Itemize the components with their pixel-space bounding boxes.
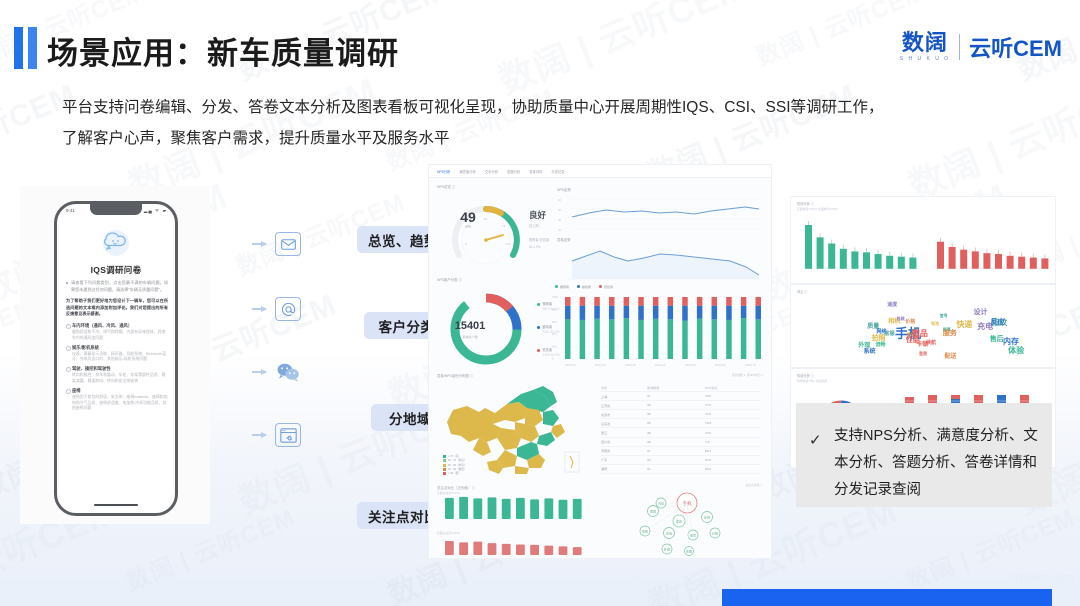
svg-text:拍照: 拍照	[642, 529, 648, 534]
svg-text:2022年5月: 2022年5月	[685, 363, 696, 367]
word-cloud[interactable]: 手机屏幕续航系统拍照充电信号价格外观性能内存电池速度质量服务体验音质网络相机设计…	[799, 293, 1049, 365]
word-cloud-word[interactable]: 反应	[991, 317, 1005, 327]
logo-chinese-text: 数阔	[902, 32, 948, 54]
footer-blue-bar	[722, 589, 1052, 606]
word-cloud-word[interactable]: 赠品	[912, 328, 928, 339]
svg-text:2022年3月: 2022年3月	[625, 363, 636, 367]
table-row[interactable]: 湖南3166.2	[601, 465, 761, 474]
word-cloud-word[interactable]: 包装	[897, 316, 905, 322]
hot-words-panel[interactable]: 热词分析 ⓘ 正面热词TOP10 负面热词TOP10 ▫ ▫ ▫ ▫	[790, 196, 1056, 284]
legend-item: 被动者	[577, 285, 591, 289]
word-cloud-word[interactable]: 信号	[940, 313, 948, 319]
svg-text:40: 40	[558, 218, 561, 222]
dashboard-tab[interactable]: 满意度分析	[459, 169, 475, 174]
province-table[interactable]: 省份答卷数量NPS得分上海4770.5江苏省4877.6北京市4574.0山东省…	[601, 383, 761, 474]
map-legend-item: < 40（低）	[443, 472, 466, 476]
slide-header: 场景应用：新车质量调研 数阔 S H U K U O 云听CEM	[0, 0, 1080, 86]
word-cloud-word[interactable]: 外观	[858, 340, 870, 349]
hot-words-controls[interactable]: ▫ ▫ ▫ ▫	[1022, 201, 1049, 205]
word-cloud-word[interactable]: 电池	[931, 321, 939, 327]
positive-focus-bars	[441, 493, 591, 523]
svg-text:价格: 价格	[712, 531, 719, 536]
table-row[interactable]: 江苏省4877.6	[601, 401, 761, 410]
dashboard-tab-bar[interactable]: NPS分析满意度分析文本分析答题分析答卷详情分发记录	[429, 165, 771, 178]
svg-text:60: 60	[558, 198, 561, 202]
nps-meta: 较上期 ↑	[529, 223, 541, 228]
phone-survey-body: 请查看下列问题类别，点击您最不满的车辆问题。如果您未遇到过任何问题，请选择"车辆…	[66, 280, 168, 415]
svg-text:30: 30	[558, 228, 561, 232]
email-icon[interactable]	[275, 232, 301, 256]
status-icons: ▂▄ ᯤ ▰	[144, 208, 167, 214]
svg-text:40%: 40%	[552, 333, 558, 336]
word-cloud-word[interactable]: 设计	[974, 307, 988, 317]
svg-text:20%: 20%	[552, 346, 558, 349]
logo-divider	[959, 34, 960, 60]
logo-chinese: 数阔 S H U K U O	[900, 32, 950, 62]
logo-product-name: 云听CEM	[969, 31, 1062, 63]
focus-section-title: 关注点对比（正负面） ⓘ	[437, 485, 475, 490]
nps-overview-title: NPS总览 ⓘ	[437, 184, 455, 189]
sentiment-controls[interactable]: ▫ ▫ ▫ ▫	[1022, 373, 1049, 377]
word-cloud-word[interactable]: 价格	[905, 318, 915, 325]
nps-meta2: 推荐者 贬损者	[529, 237, 549, 242]
word-cloud-word[interactable]: 卡顿	[916, 339, 928, 348]
phone-home-indicator	[94, 504, 138, 507]
sentiment-title: 情感分析 ⓘ	[797, 373, 814, 378]
nps-gauge-value: 49	[429, 209, 507, 225]
intro-paragraph: 平台支持问卷编辑、分发、答卷文本分析及图表看板可视化呈现，协助质量中心开展周期性…	[62, 92, 1042, 154]
svg-text:50: 50	[558, 208, 561, 212]
table-row[interactable]: 浙江4872.6	[601, 428, 761, 437]
logo-pinyin: S H U K U O	[900, 56, 950, 62]
arrow-icon	[252, 371, 266, 373]
table-row[interactable]: 四川省467.6	[601, 438, 761, 447]
nps-status-label: 良好	[529, 209, 546, 221]
table-row[interactable]: 广东3367.5	[601, 456, 761, 465]
svg-text:信号: 信号	[690, 533, 696, 538]
keyword-bubble-network[interactable]: 手机屏幕续航系统拍照充电信号价格外观性能内存	[615, 483, 765, 559]
phone-survey-title: IQS调研问卷	[57, 264, 175, 276]
svg-text:性能: 性能	[686, 549, 692, 554]
phone-status-bar: 9:41 ▂▄ ᯤ ▰	[57, 207, 175, 217]
table-row[interactable]: 北京市4574.0	[601, 410, 761, 419]
survey-question-desc: 转向和操控、刹车和震动、车轮、车架零部件品质、悬架减震、悬架转向、转向和安全带安…	[72, 372, 168, 384]
svg-text:2022年2月: 2022年2月	[595, 363, 606, 367]
survey-question[interactable]: 娱乐/影机系统仪表、屏幕显示功能、扬声器、导航系统、Bluetooth蓝牙、充电…	[66, 345, 168, 363]
nps-gauge-unit: NPS	[429, 225, 507, 229]
word-cloud-word[interactable]: 服务	[943, 328, 957, 338]
wechat-icon[interactable]	[275, 360, 301, 384]
check-icon: ✓	[809, 431, 822, 449]
intro-line-1: 平台支持问卷编辑、分发、答卷文本分析及图表看板可视化呈现，协助质量中心开展周期性…	[62, 92, 1042, 123]
svg-text:外观: 外观	[664, 547, 670, 552]
word-cloud-word[interactable]: 流畅	[876, 341, 886, 348]
donut-total-value: 15401	[429, 320, 511, 332]
survey-question[interactable]: 车内环境（通风、冷风、通风）暖和舒适和不冷、排气和除霜、内部有异味怪味、其他车内…	[66, 323, 168, 341]
svg-text:0: 0	[465, 242, 467, 246]
arrow-icon	[252, 308, 266, 310]
svg-text:2022年1月: 2022年1月	[565, 363, 576, 367]
dashboard-screenshot[interactable]: NPS分析满意度分析文本分析答题分析答卷详情分发记录 NPS总览 ⓘ 0 100…	[428, 164, 772, 559]
response-trend-area-chart	[554, 241, 762, 281]
arrow-icon	[252, 243, 266, 245]
svg-text:100%: 100%	[552, 296, 559, 299]
legend-item: 推荐者	[555, 285, 569, 289]
survey-intro-bullet: 请查看下列问题类别，点击您最不满的车辆问题。如果您未遇到过任何问题，请选择"车辆…	[66, 280, 168, 293]
feature-callout: ✓ 支持NPS分析、满意度分析、文本分析、答题分析、答卷详情和分发记录查阅	[796, 403, 1052, 507]
svg-text:系统: 系统	[704, 515, 710, 520]
slide-page: 数阔 | 云听CEM数阔 | 云听CEM数阔 | 云听CEM数阔 | 云听CEM…	[0, 0, 1080, 606]
word-cloud-word[interactable]: 配送	[944, 351, 956, 360]
dashboard-tab[interactable]: 分发记录	[551, 169, 564, 174]
status-time: 9:41	[66, 208, 75, 213]
survey-question-list[interactable]: 车内环境（通风、冷风、通风）暖和舒适和不冷、排气和除霜、内部有异味怪味、其他车内…	[66, 323, 168, 411]
link-browser-icon[interactable]	[275, 423, 301, 447]
table-header-row: 省份答卷数量NPS得分	[601, 383, 761, 392]
intro-line-2: 了解客户心声，聚焦客户需求，提升质量水平及服务水平	[62, 123, 1042, 154]
survey-question-desc: 座椅用于和包的舒适、安全带、座椅material、座椅和加热和冷气品质、座椅舒适…	[72, 394, 168, 411]
title-accent-bars	[14, 27, 37, 69]
callout-text: 支持NPS分析、满意度分析、文本分析、答题分析、答卷详情和分发记录查阅	[834, 423, 1042, 504]
survey-question-desc: 暖和舒适和不冷、排气和除霜、内部有异味怪味、其他车内的通风加问题	[72, 329, 168, 341]
svg-text:80%: 80%	[552, 308, 558, 311]
dashboard-tab[interactable]: NPS分析	[437, 169, 450, 174]
survey-question[interactable]: 驾驶、操控和驾驶性转向和操控、刹车和震动、车轮、车架零部件品质、悬架减震、悬架转…	[66, 366, 168, 384]
survey-intro-bold: 为了帮助子我们更好地为您设计下一辆车，您可以在所选问题的文本框内添加附加评论。我…	[66, 298, 168, 318]
map-legend-item: 60 - 70（较高）	[443, 459, 466, 463]
hot-words-sub: 正面热词TOP10 负面热词TOP10	[797, 207, 838, 211]
stacked-chart-legend: 推荐者被动者贬损者	[555, 285, 613, 289]
svg-text:屏幕: 屏幕	[650, 509, 656, 514]
svg-text:2022年6月: 2022年6月	[715, 363, 726, 367]
table-filters[interactable]: 按答卷数 ▾ 按NPS得分 ▾	[732, 373, 763, 377]
trend-chart-title: NPS走势	[557, 187, 571, 192]
dashboard-tab[interactable]: 答题分析	[507, 169, 520, 174]
footer-url: hrbsam.com	[1008, 572, 1074, 584]
table-row[interactable]: 河南省3769.1	[601, 447, 761, 456]
phone-mockup: 9:41 ▂▄ ᯤ ▰ IQS调研问卷 请查看下列问题类别，点击您最不满的车辆问…	[54, 201, 178, 516]
nps-trend-line-chart: 60 50 40 30	[554, 193, 762, 237]
svg-text:2022年7月: 2022年7月	[745, 363, 756, 367]
word-cloud-word[interactable]: 售后	[990, 334, 1004, 344]
page-title: 场景应用：新车质量调研	[47, 28, 399, 73]
map-legend: ≥ 70（高）60 - 70（较高）50 - 60（中等）40 - 50（偏低）…	[443, 455, 466, 476]
table-row[interactable]: 山东省3576.0	[601, 419, 761, 428]
word-cloud-word[interactable]: 速度	[887, 301, 897, 308]
nps-meta3: 61 2.0%	[529, 245, 541, 249]
sentiment-sub: 整体情感分布 / 情感趋势	[797, 379, 827, 383]
dashboard-tab[interactable]: 文本分析	[485, 169, 498, 174]
donut-total-label: 答卷总个数	[429, 334, 511, 339]
hot-words-title: 热词分析 ⓘ	[797, 201, 814, 206]
map-section-title: 答卷/NPS省份分布图 ⓘ	[437, 373, 473, 378]
negative-focus-bars	[441, 535, 591, 559]
arrow-icon	[252, 434, 266, 436]
legend-item: 贬损者	[599, 285, 613, 289]
svg-text:100: 100	[505, 242, 510, 246]
svg-text:内存: 内存	[658, 501, 664, 506]
word-cloud-panel[interactable]: 词云 ⓘ 手机屏幕续航系统拍照充电信号价格外观性能内存电池速度质量服务体验音质网…	[790, 284, 1056, 368]
table-row[interactable]: 上海4770.5	[601, 392, 761, 401]
nps-segment-title: NPS客户分类 ⓘ	[437, 277, 462, 282]
survey-question[interactable]: 座椅座椅用于和包的舒适、安全带、座椅material、座椅和加热和冷气品质、座椅…	[66, 388, 168, 411]
svg-text:0: 0	[552, 358, 554, 361]
word-cloud-word[interactable]: 体验	[1008, 345, 1024, 356]
svg-text:60%: 60%	[552, 321, 558, 324]
word-cloud-word[interactable]: 客服	[885, 330, 895, 337]
word-cloud-word[interactable]: 音质	[919, 351, 927, 357]
word-cloud-word[interactable]: 快递	[956, 319, 972, 330]
at-sign-icon[interactable]	[275, 297, 301, 321]
dashboard-tab[interactable]: 答卷详情	[529, 169, 542, 174]
svg-text:充电: 充电	[666, 531, 672, 536]
brand-logo: 数阔 S H U K U O 云听CEM	[900, 31, 1062, 63]
cloud-speech-icon	[96, 229, 136, 259]
survey-question-desc: 仪表、屏幕显示功能、扬声器、导航系统、Bluetooth蓝牙、充电及含口的、其他…	[72, 351, 168, 363]
svg-text:2022年4月: 2022年4月	[655, 363, 666, 367]
nps-stacked-bar-chart: 100%80%60%40%20%02022年1月2022年2月2022年3月20…	[549, 291, 765, 371]
